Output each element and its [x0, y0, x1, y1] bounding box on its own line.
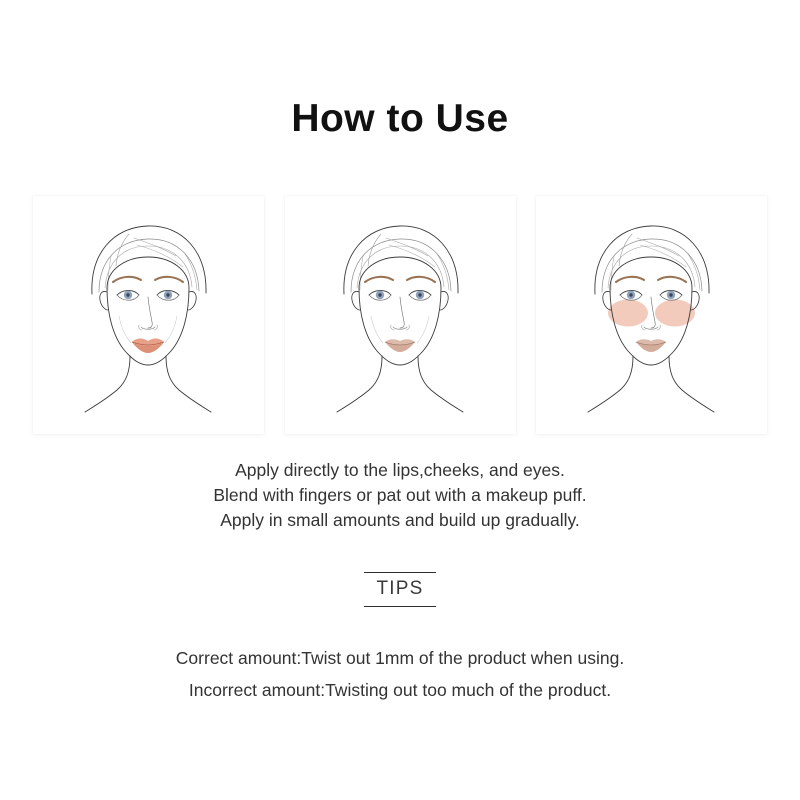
- instruction-line-2: Blend with fingers or pat out with a mak…: [0, 483, 800, 508]
- illustration-panel-2: [285, 196, 516, 434]
- tip-line-incorrect: Incorrect amount:Twisting out too much o…: [0, 674, 800, 706]
- tips-heading-block: TIPS: [0, 572, 800, 607]
- instruction-text-block: Apply directly to the lips,cheeks, and e…: [0, 458, 800, 533]
- face-illustration-bare: [285, 196, 516, 434]
- tips-rule-bottom: [364, 606, 436, 607]
- face-illustration-plain-lips: [33, 196, 264, 434]
- illustration-panel-row: [33, 196, 767, 434]
- instruction-line-3: Apply in small amounts and build up grad…: [0, 508, 800, 533]
- face-illustration-blush-cheeks: [536, 196, 767, 434]
- page-title: How to Use: [0, 98, 800, 141]
- tips-label: TIPS: [0, 573, 800, 606]
- tips-text-block: Correct amount:Twist out 1mm of the prod…: [0, 642, 800, 706]
- illustration-panel-1: [33, 196, 264, 434]
- tip-line-correct: Correct amount:Twist out 1mm of the prod…: [0, 642, 800, 674]
- lips-bare: [385, 339, 415, 352]
- lips-tinted: [132, 339, 164, 354]
- lips-bare: [636, 339, 666, 352]
- instruction-line-1: Apply directly to the lips,cheeks, and e…: [0, 458, 800, 483]
- how-to-use-page: How to Use: [0, 0, 800, 800]
- illustration-panel-3: [536, 196, 767, 434]
